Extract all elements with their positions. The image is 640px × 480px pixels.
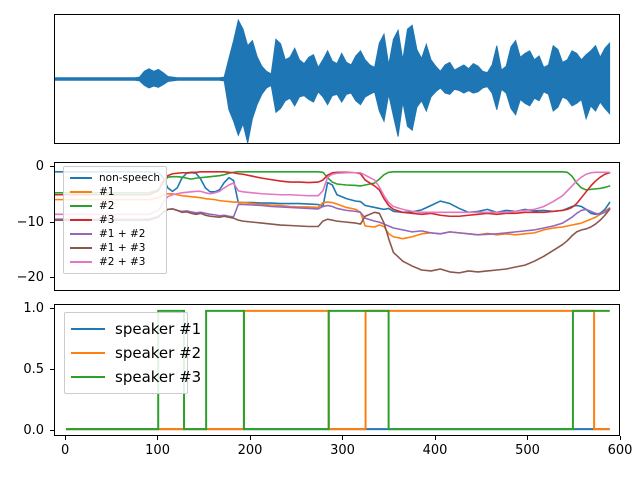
legend-label: non-speech (99, 171, 160, 185)
legend-item: non-speech (70, 171, 160, 185)
legend-swatch-line (70, 233, 92, 235)
legend-item: speaker #2 (71, 341, 181, 365)
speaker-activity-legend: speaker #1speaker #2speaker #3 (64, 312, 188, 394)
legend-label: speaker #3 (115, 365, 201, 389)
legend-item: speaker #3 (71, 365, 181, 389)
legend-item: speaker #1 (71, 317, 181, 341)
legend-item: #2 (70, 199, 160, 213)
legend-item: #1 + #3 (70, 241, 160, 255)
legend-swatch-line (71, 328, 105, 330)
log-likelihood-legend: non-speech#1#2#3#1 + #2#1 + #3#2 + #3 (63, 166, 167, 274)
xtick-label: 0 (43, 443, 87, 458)
xtick-mark (65, 436, 66, 440)
legend-swatch-line (70, 191, 92, 193)
xtick-mark (620, 436, 621, 440)
legend-swatch-line (70, 205, 92, 207)
xtick-mark (435, 436, 436, 440)
ytick-label-0: 0 (12, 159, 44, 174)
xtick-label: 200 (228, 443, 272, 458)
xtick-label: 500 (506, 443, 550, 458)
xtick-mark (342, 436, 343, 440)
ytick-label-0-5: 0.5 (4, 362, 44, 377)
legend-swatch-line (70, 219, 92, 221)
xtick-label: 600 (598, 443, 640, 458)
xtick-label: 300 (321, 443, 365, 458)
legend-swatch-line (71, 376, 105, 378)
ytick-label-minus10: −10 (6, 215, 44, 230)
xtick-mark (527, 436, 528, 440)
xtick-mark (157, 436, 158, 440)
legend-swatch-line (70, 247, 92, 249)
ytick-mark (50, 222, 54, 223)
legend-label: #1 (99, 185, 114, 199)
xtick-mark (250, 436, 251, 440)
legend-label: #1 + #3 (99, 241, 145, 255)
ytick-label-1-0: 1.0 (4, 301, 44, 316)
legend-item: #3 (70, 213, 160, 227)
ytick-label-minus20: −20 (6, 270, 44, 285)
xtick-label: 100 (136, 443, 180, 458)
waveform-plot-area (55, 15, 619, 143)
ytick-mark (50, 277, 54, 278)
ytick-mark (50, 430, 54, 431)
legend-label: #2 (99, 199, 114, 213)
legend-label: speaker #1 (115, 317, 201, 341)
ytick-mark (50, 166, 54, 167)
figure-canvas: non-speech#1#2#3#1 + #2#1 + #3#2 + #3 0 … (0, 0, 640, 480)
legend-label: speaker #2 (115, 341, 201, 365)
legend-item: #1 (70, 185, 160, 199)
legend-swatch-line (70, 177, 92, 179)
legend-swatch-line (71, 352, 105, 354)
xtick-label: 400 (413, 443, 457, 458)
ytick-mark (50, 369, 54, 370)
legend-label: #1 + #2 (99, 227, 145, 241)
ytick-mark (50, 308, 54, 309)
legend-label: #3 (99, 213, 114, 227)
legend-swatch-line (70, 261, 92, 263)
waveform-panel (54, 14, 620, 144)
legend-item: #2 + #3 (70, 255, 160, 269)
legend-item: #1 + #2 (70, 227, 160, 241)
ytick-label-0-0: 0.0 (4, 423, 44, 438)
legend-label: #2 + #3 (99, 255, 145, 269)
